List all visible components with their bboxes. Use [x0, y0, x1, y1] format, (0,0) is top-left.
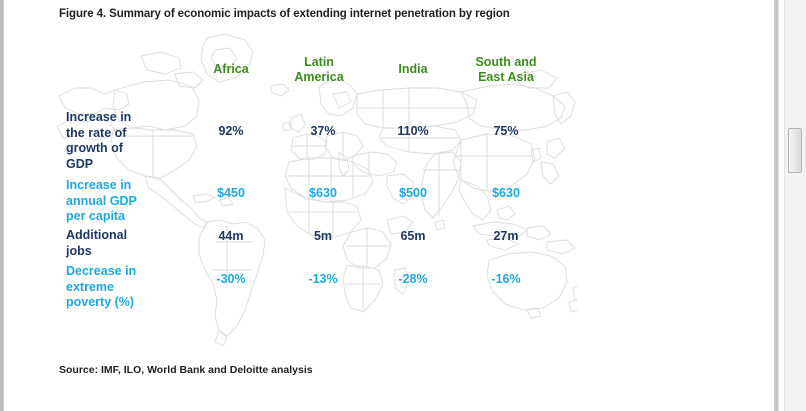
row-header-decrease-in-extreme-poverty: Decrease in extreme poverty (%)	[66, 264, 161, 311]
row-header-additional-jobs: Additional jobs	[66, 228, 161, 259]
cell-growth-latin-america: 37%	[288, 124, 358, 138]
cell-gdp-per-capita-india: $500	[378, 186, 448, 200]
cell-jobs-south-and-east-asia: 27m	[471, 229, 541, 243]
cell-jobs-india: 65m	[378, 229, 448, 243]
page-edge-right	[774, 0, 779, 411]
cell-poverty-india: -28%	[378, 272, 448, 286]
column-header-south-and-east-asia: South and East Asia	[455, 55, 557, 85]
cell-poverty-africa: -30%	[196, 272, 266, 286]
impacts-table: Africa Latin America India South and Eas…	[5, 0, 774, 411]
cell-gdp-per-capita-africa: $450	[196, 186, 266, 200]
cell-gdp-per-capita-latin-america: $630	[288, 186, 358, 200]
column-header-latin-america: Latin America	[284, 55, 354, 85]
row-header-annual-gdp-per-capita: Increase in annual GDP per capita	[66, 178, 161, 225]
column-header-india: India	[378, 62, 448, 77]
document-page: Figure 4. Summary of economic impacts of…	[5, 0, 774, 411]
vertical-scrollbar-thumb[interactable]	[788, 128, 802, 173]
cell-jobs-africa: 44m	[196, 229, 266, 243]
column-header-africa: Africa	[196, 62, 266, 77]
cell-growth-africa: 92%	[196, 124, 266, 138]
cell-growth-south-and-east-asia: 75%	[471, 124, 541, 138]
document-viewport: Figure 4. Summary of economic impacts of…	[0, 0, 806, 411]
cell-jobs-latin-america: 5m	[288, 229, 358, 243]
vertical-scrollbar[interactable]	[784, 0, 806, 411]
row-header-growth-of-gdp: Increase in the rate of growth of GDP	[66, 110, 161, 172]
cell-gdp-per-capita-south-and-east-asia: $630	[471, 186, 541, 200]
cell-poverty-latin-america: -13%	[288, 272, 358, 286]
page-gutter-left	[0, 0, 4, 411]
cell-poverty-south-and-east-asia: -16%	[471, 272, 541, 286]
source-note: Source: IMF, ILO, World Bank and Deloitt…	[59, 364, 313, 376]
cell-growth-india: 110%	[378, 124, 448, 138]
